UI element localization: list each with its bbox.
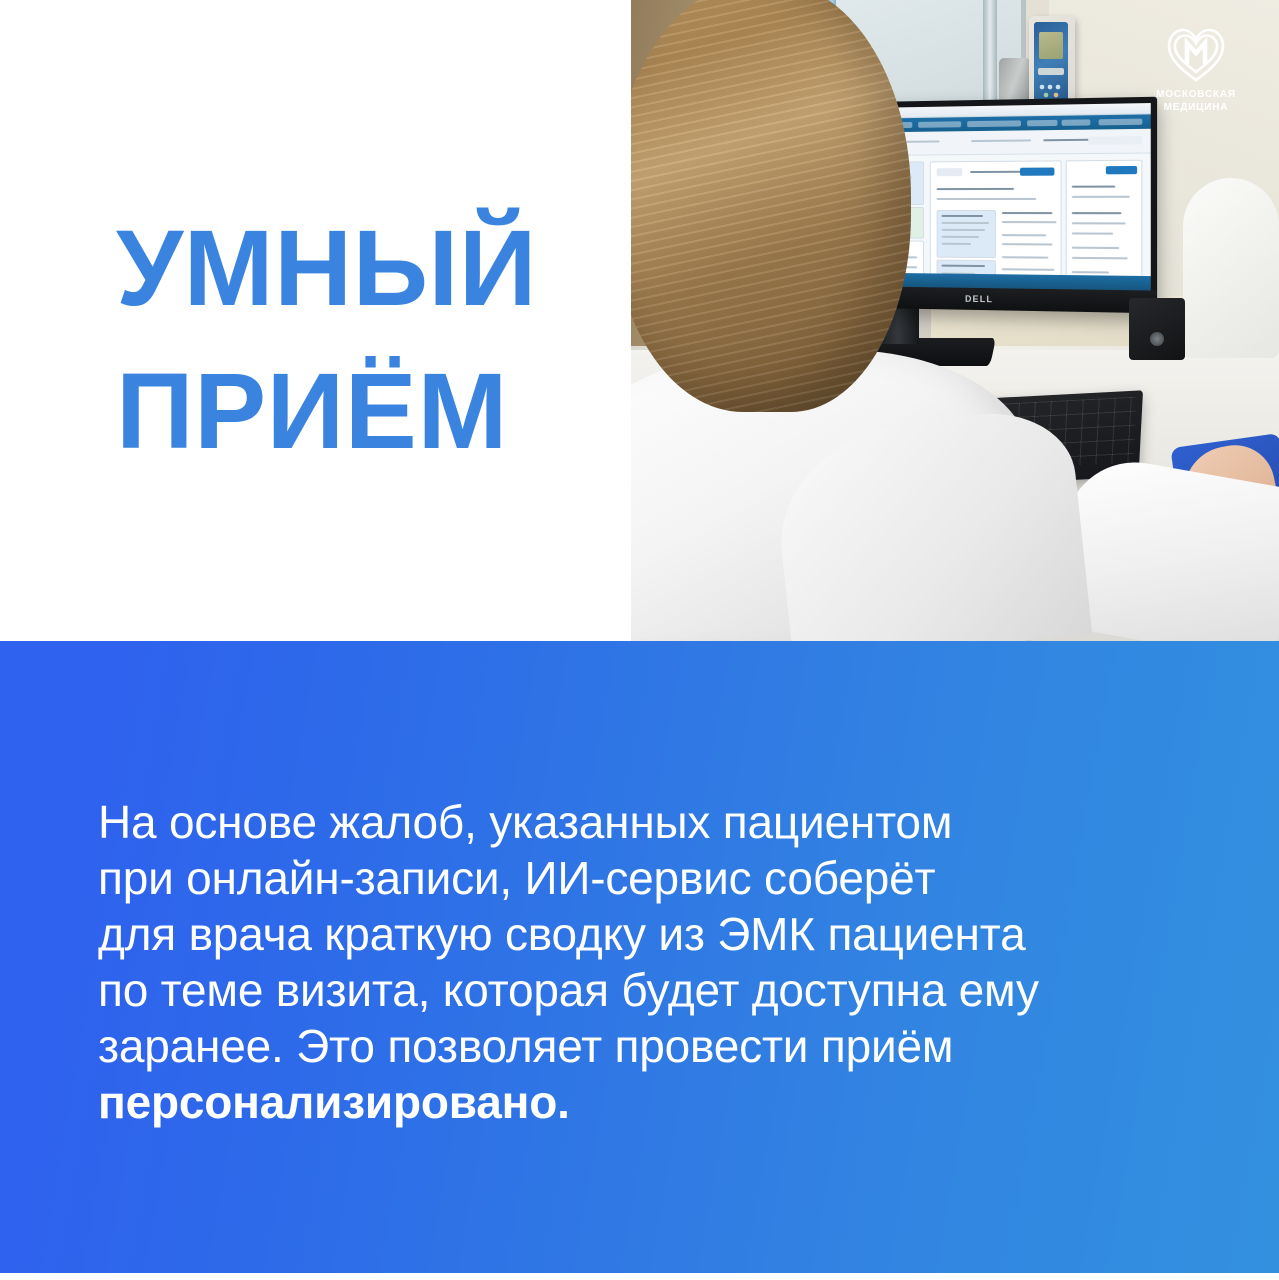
monitor-brand-label: DELL: [965, 294, 993, 304]
photo-emr-nav-account: [1099, 119, 1143, 126]
photo-doctor-hair: [631, 0, 911, 412]
hero-photo: DELL CBR: [631, 0, 1279, 641]
photo-lamp: [1183, 178, 1279, 358]
logo-text-block: МОСКОВСКАЯ МЕДИЦИНА: [1141, 88, 1251, 114]
brand-logo: МОСКОВСКАЯ МЕДИЦИНА: [1141, 28, 1251, 114]
logo-text-line-2: МЕДИЦИНА: [1164, 102, 1229, 113]
photo-desk-speaker: [1129, 298, 1185, 360]
photo-emr-nav-item: [1027, 120, 1057, 126]
photo-emr-nav-user: [1062, 119, 1091, 126]
photo-emr-summary-panel: [930, 160, 1062, 290]
slide-root: УМНЫЙ ПРИЁМ: [0, 0, 1279, 1280]
photo-device-screen: [1039, 32, 1063, 59]
body-line-4: по теме визита, которая будет доступна е…: [98, 962, 1118, 1018]
photo-emr-toolbar-button: [1088, 136, 1142, 145]
body-line-5: заранее. Это позволяет провести приём: [98, 1018, 1118, 1074]
body-line-2: при онлайн-записи, ИИ-сервис соберёт: [98, 850, 1118, 906]
photo-hair-strands: [631, 0, 911, 412]
headline-line-1: УМНЫЙ: [116, 196, 616, 339]
photo-emr-toolbar-label: [971, 139, 1031, 142]
body-line-3: для врача краткую сводку из ЭМК пациента: [98, 906, 1118, 962]
body-line-6-emphasis: персонализировано.: [98, 1074, 1118, 1130]
page-title: УМНЫЙ ПРИЁМ: [116, 196, 616, 482]
body-copy: На основе жалоб, указанных пациентом при…: [98, 794, 1118, 1130]
photo-emr-nav-item: [918, 121, 961, 128]
headline-line-2: ПРИЁМ: [116, 339, 616, 482]
photo-device-button-bar: [1038, 68, 1064, 75]
bottom-white-strip: [0, 1273, 1279, 1280]
body-line-1: На основе жалоб, указанных пациентом: [98, 794, 1118, 850]
photo-speaker-driver: [1150, 332, 1164, 346]
logo-text-line-1: МОСКОВСКАЯ: [1156, 89, 1236, 100]
moscow-medicine-heart-m-logo-icon: [1167, 28, 1225, 82]
photo-device-keypad: [1038, 82, 1065, 100]
photo-emr-right-panel: [1066, 160, 1143, 291]
photo-emr-nav-item: [967, 120, 1021, 127]
photo-device-mount-arm: [999, 58, 1031, 104]
bottom-section: На основе жалоб, указанных пациентом при…: [0, 641, 1279, 1273]
top-section: УМНЫЙ ПРИЁМ: [0, 0, 1279, 641]
photo-emr-toolbar-label: [1043, 139, 1092, 142]
